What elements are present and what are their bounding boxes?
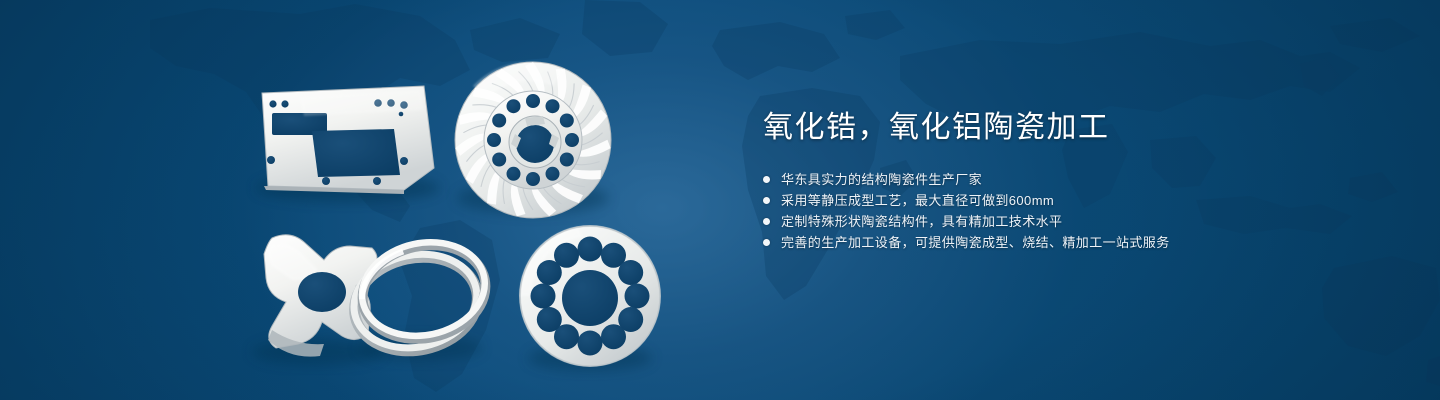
feature-text: 定制特殊形状陶瓷结构件，具有精加工技术水平 [781, 211, 1062, 232]
feature-text: 采用等静压成型工艺，最大直径可做到600mm [781, 190, 1054, 211]
banner-copy: 氧化锆，氧化铝陶瓷加工 华东具实力的结构陶瓷件生产厂家 采用等静压成型工艺，最大… [763, 108, 1383, 253]
feature-text: 完善的生产加工设备，可提供陶瓷成型、烧结、精加工一站式服务 [781, 232, 1170, 253]
banner-headline: 氧化锆，氧化铝陶瓷加工 [763, 108, 1383, 148]
ceramic-impeller-rotor [454, 62, 611, 219]
feature-item: 采用等静压成型工艺，最大直径可做到600mm [763, 190, 1383, 211]
product-photo-cluster [0, 0, 720, 400]
feature-text: 华东具实力的结构陶瓷件生产厂家 [781, 169, 982, 190]
bullet-dot-icon [763, 176, 770, 183]
bullet-dot-icon [763, 218, 770, 225]
bullet-dot-icon [763, 197, 770, 204]
feature-item: 定制特殊形状陶瓷结构件，具有精加工技术水平 [763, 211, 1383, 232]
feature-list: 华东具实力的结构陶瓷件生产厂家 采用等静压成型工艺，最大直径可做到600mm 定… [763, 169, 1383, 253]
ceramic-perforated-disc [520, 226, 660, 371]
hero-banner: 氧化锆，氧化铝陶瓷加工 华东具实力的结构陶瓷件生产厂家 采用等静压成型工艺，最大… [0, 0, 1440, 400]
feature-item: 华东具实力的结构陶瓷件生产厂家 [763, 169, 1383, 190]
ceramic-mounting-plate [256, 86, 440, 202]
bullet-dot-icon [763, 239, 770, 246]
feature-item: 完善的生产加工设备，可提供陶瓷成型、烧结、精加工一站式服务 [763, 232, 1383, 253]
